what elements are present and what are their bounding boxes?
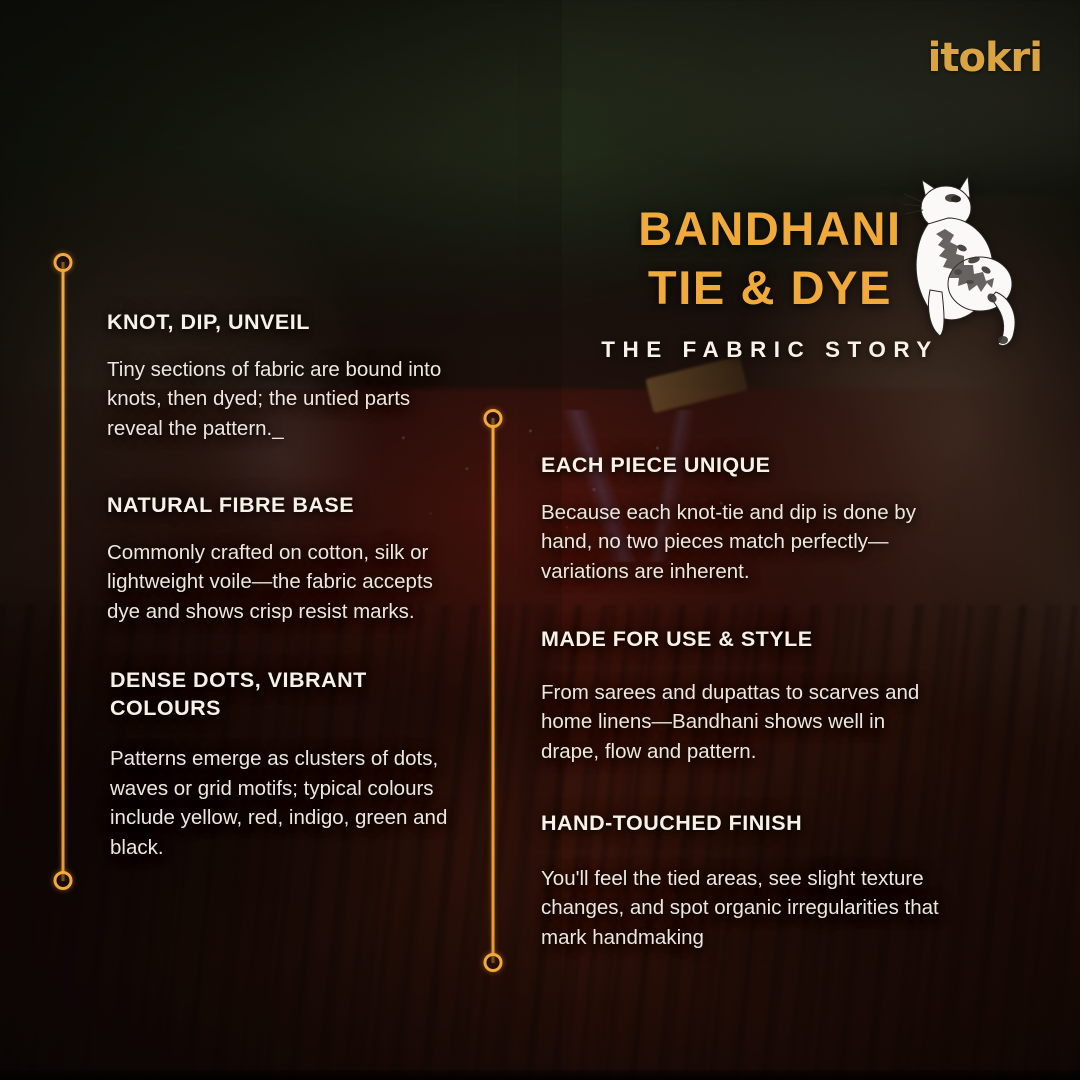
left-block-knot-dip-unveil: KNOT, DIP, UNVEIL Tiny sections of fabri… [107, 309, 467, 443]
rail-node-start [54, 253, 73, 272]
block-body: Tiny sections of fabric are bound into k… [107, 355, 467, 444]
block-heading: KNOT, DIP, UNVEIL [107, 309, 467, 337]
rail-node-end [484, 953, 503, 972]
right-timeline-rail [483, 418, 503, 963]
block-body: From sarees and dupattas to scarves and … [541, 678, 941, 767]
rail-line [62, 262, 65, 881]
foreground-content: itokri BANDHANI TIE & DYE THE FABRIC STO… [0, 0, 1080, 1080]
block-heading: EACH PIECE UNIQUE [541, 452, 941, 480]
rail-line [492, 418, 495, 963]
block-heading: NATURAL FIBRE BASE [107, 492, 467, 520]
rail-node-start [484, 409, 503, 428]
brand-logo[interactable]: itokri [928, 38, 1042, 78]
infographic-poster: itokri BANDHANI TIE & DYE THE FABRIC STO… [0, 0, 1080, 1080]
block-body: Because each knot-tie and dip is done by… [541, 498, 941, 587]
right-block-made-for-use-and-style: MADE FOR USE & STYLE From sarees and dup… [541, 626, 941, 766]
block-body: You'll feel the tied areas, see slight t… [541, 864, 941, 953]
block-heading: MADE FOR USE & STYLE [541, 626, 941, 654]
right-block-each-piece-unique: EACH PIECE UNIQUE Because each knot-tie … [541, 452, 941, 586]
block-body: Patterns emerge as clusters of dots, wav… [110, 744, 460, 862]
block-heading: DENSE DOTS, VIBRANT COLOURS [110, 667, 460, 722]
right-block-hand-touched-finish: HAND-TOUCHED FINISH You'll feel the tied… [541, 810, 941, 952]
left-timeline-rail [53, 262, 73, 881]
block-body: Commonly crafted on cotton, silk or ligh… [107, 538, 467, 627]
left-block-natural-fibre-base: NATURAL FIBRE BASE Commonly crafted on c… [107, 492, 467, 626]
rail-node-end [54, 871, 73, 890]
left-block-dense-dots-vibrant-colours: DENSE DOTS, VIBRANT COLOURS Patterns eme… [110, 667, 460, 862]
block-heading: HAND-TOUCHED FINISH [541, 810, 941, 838]
cat-illustration [900, 172, 1028, 352]
